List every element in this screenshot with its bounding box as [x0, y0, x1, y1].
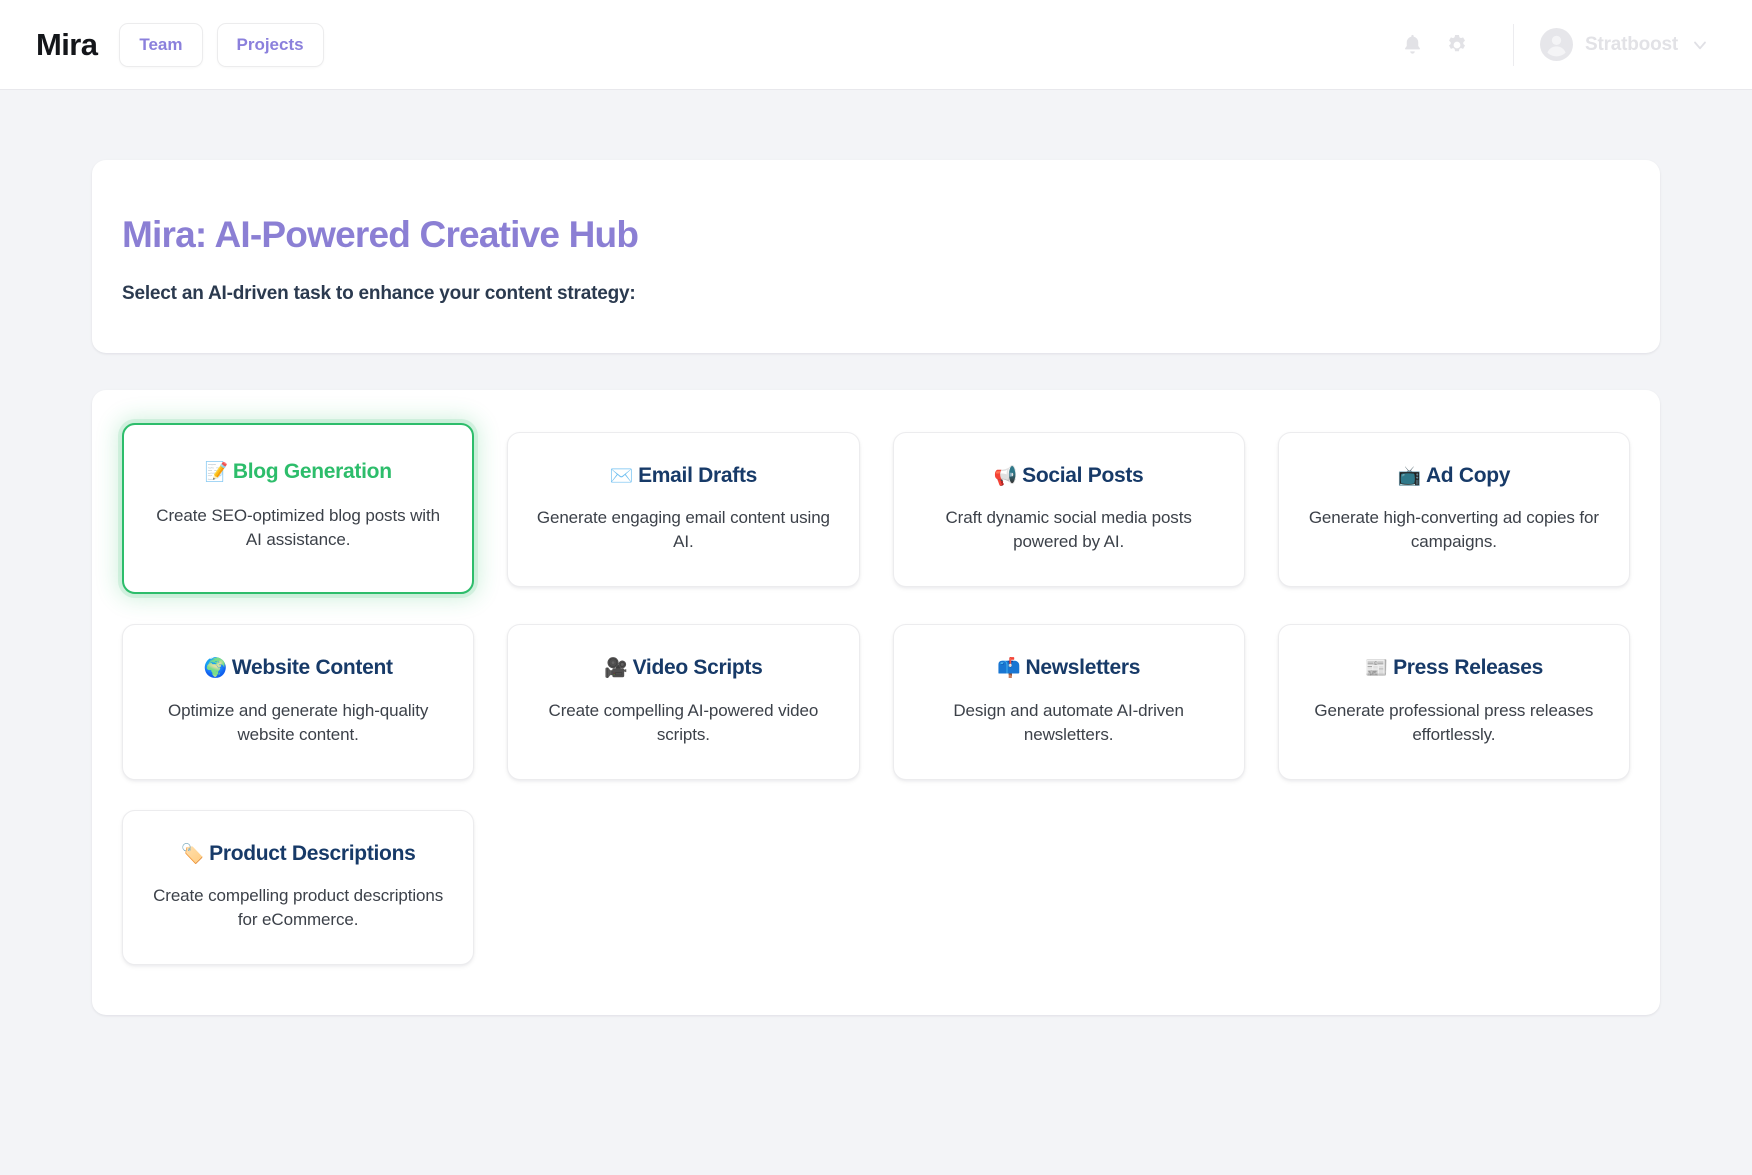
top-navigation-bar: Mira Team Projects Stratboost: [0, 0, 1752, 90]
app-brand-logo: Mira: [36, 27, 97, 63]
task-card-newsletters[interactable]: 📫NewslettersDesign and automate AI-drive…: [893, 624, 1245, 779]
task-card-title-label: Email Drafts: [638, 464, 757, 487]
task-card-title-label: Product Descriptions: [209, 842, 415, 865]
top-bar-actions: Stratboost: [1391, 23, 1716, 67]
task-card-social-posts[interactable]: 📢Social PostsCraft dynamic social media …: [893, 432, 1245, 587]
task-card-press-releases[interactable]: 📰Press ReleasesGenerate professional pre…: [1278, 624, 1630, 779]
page-title: Mira: AI-Powered Creative Hub: [122, 214, 1630, 256]
task-card-video-scripts[interactable]: 🎥Video ScriptsCreate compelling AI-power…: [507, 624, 859, 779]
nav-button-team[interactable]: Team: [119, 23, 202, 67]
account-menu[interactable]: Stratboost: [1540, 28, 1716, 61]
task-card-title-label: Ad Copy: [1426, 464, 1510, 487]
gear-icon[interactable]: [1435, 23, 1479, 67]
task-card-description: Design and automate AI-driven newsletter…: [918, 699, 1220, 747]
task-card-description: Craft dynamic social media posts powered…: [918, 506, 1220, 554]
task-card-ad-copy[interactable]: 📺Ad CopyGenerate high-converting ad copi…: [1278, 432, 1630, 587]
task-card-description: Create compelling AI-powered video scrip…: [532, 699, 834, 747]
task-card-title-label: Press Releases: [1393, 656, 1543, 679]
task-card-website-content[interactable]: 🌍Website ContentOptimize and generate hi…: [122, 624, 474, 779]
task-card-email-drafts[interactable]: ✉️Email DraftsGenerate engaging email co…: [507, 432, 859, 587]
task-card-description: Generate high-converting ad copies for c…: [1303, 506, 1605, 554]
task-card-description: Generate engaging email content using AI…: [532, 506, 834, 554]
hero-panel: Mira: AI-Powered Creative Hub Select an …: [92, 160, 1660, 353]
user-avatar-icon: [1540, 28, 1573, 61]
mailbox-icon: 📫: [997, 657, 1020, 679]
bell-icon[interactable]: [1391, 23, 1435, 67]
task-card-title: 📝Blog Generation: [148, 459, 448, 484]
task-card-title: 📺Ad Copy: [1303, 463, 1605, 488]
account-name-label: Stratboost: [1585, 34, 1678, 56]
task-card-title-label: Newsletters: [1026, 656, 1141, 679]
globe-icon: 🌍: [204, 657, 227, 679]
page-content: Mira: AI-Powered Creative Hub Select an …: [0, 90, 1752, 1015]
task-card-title: 📢Social Posts: [918, 463, 1220, 488]
label-tag-icon: 🏷️: [181, 843, 204, 865]
newspaper-icon: 📰: [1365, 657, 1388, 679]
header-divider: [1513, 24, 1514, 66]
task-card-title-label: Video Scripts: [633, 656, 763, 679]
memo-icon: 📝: [205, 461, 228, 483]
task-card-title: 🌍Website Content: [147, 655, 449, 680]
nav-button-projects[interactable]: Projects: [217, 23, 324, 67]
task-card-blog-generation[interactable]: 📝Blog GenerationCreate SEO-optimized blo…: [122, 423, 474, 594]
movie-camera-icon: 🎥: [604, 657, 627, 679]
task-card-title-label: Social Posts: [1022, 464, 1143, 487]
task-card-title: 📰Press Releases: [1303, 655, 1605, 680]
task-card-title: ✉️Email Drafts: [532, 463, 834, 488]
task-card-description: Generate professional press releases eff…: [1303, 699, 1605, 747]
task-card-description: Create compelling product descriptions f…: [147, 884, 449, 932]
television-icon: 📺: [1398, 465, 1421, 487]
task-card-grid: 📝Blog GenerationCreate SEO-optimized blo…: [122, 432, 1630, 965]
envelope-icon: ✉️: [610, 465, 633, 487]
task-card-description: Create SEO-optimized blog posts with AI …: [148, 504, 448, 552]
page-subtitle: Select an AI-driven task to enhance your…: [122, 283, 1630, 305]
task-card-description: Optimize and generate high-quality websi…: [147, 699, 449, 747]
task-card-title: 🏷️Product Descriptions: [147, 841, 449, 866]
task-card-title-label: Blog Generation: [233, 460, 392, 483]
task-card-title: 🎥Video Scripts: [532, 655, 834, 680]
loudspeaker-icon: 📢: [994, 465, 1017, 487]
task-selection-panel: 📝Blog GenerationCreate SEO-optimized blo…: [92, 390, 1660, 1015]
task-card-product-descriptions[interactable]: 🏷️Product DescriptionsCreate compelling …: [122, 810, 474, 965]
chevron-down-icon: [1690, 35, 1710, 55]
task-card-title: 📫Newsletters: [918, 655, 1220, 680]
task-card-title-label: Website Content: [232, 656, 393, 679]
